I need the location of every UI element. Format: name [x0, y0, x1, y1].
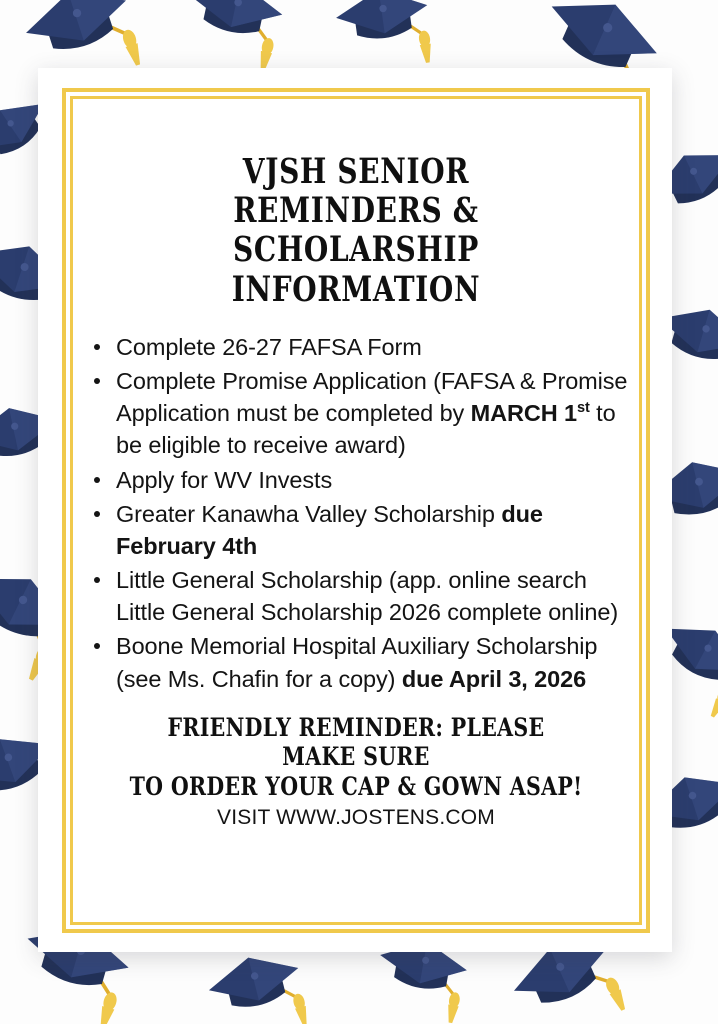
list-item-boone-memorial: Boone Memorial Hospital Auxiliary Schola…: [86, 630, 632, 694]
announcement-card: VJSH SENIOR REMINDERS & SCHOLARSHIP INFO…: [38, 68, 672, 952]
list-item-wv-invests: Apply for WV Invests: [86, 464, 632, 496]
list-item-fafsa-form: Complete 26-27 FAFSA Form: [86, 331, 632, 363]
list-item-greater-kanawha-valley: Greater Kanawha Valley Scholarship due F…: [86, 498, 632, 562]
reminder-list: Complete 26-27 FAFSA FormComplete Promis…: [78, 331, 634, 697]
graduation-cap-icon: [177, 0, 287, 72]
graduation-cap-icon: [333, 0, 435, 74]
list-item-promise-application: Complete Promise Application (FAFSA & Pr…: [86, 365, 632, 462]
footer-section: FRIENDLY REMINDER: PLEASE MAKE SURE TO O…: [78, 713, 634, 831]
card-content: VJSH SENIOR REMINDERS & SCHOLARSHIP INFO…: [78, 108, 634, 918]
list-item-little-general: Little General Scholarship (app. online …: [86, 564, 632, 628]
graduation-cap-icon: [204, 947, 312, 1024]
poster-canvas: VJSH SENIOR REMINDERS & SCHOLARSHIP INFO…: [0, 0, 718, 1024]
friendly-reminder-text: FRIENDLY REMINDER: PLEASE MAKE SURE TO O…: [128, 713, 584, 802]
page-title: VJSH SENIOR REMINDERS & SCHOLARSHIP INFO…: [134, 152, 579, 309]
jostens-url-text: VISIT WWW.JOSTENS.COM: [78, 806, 634, 830]
